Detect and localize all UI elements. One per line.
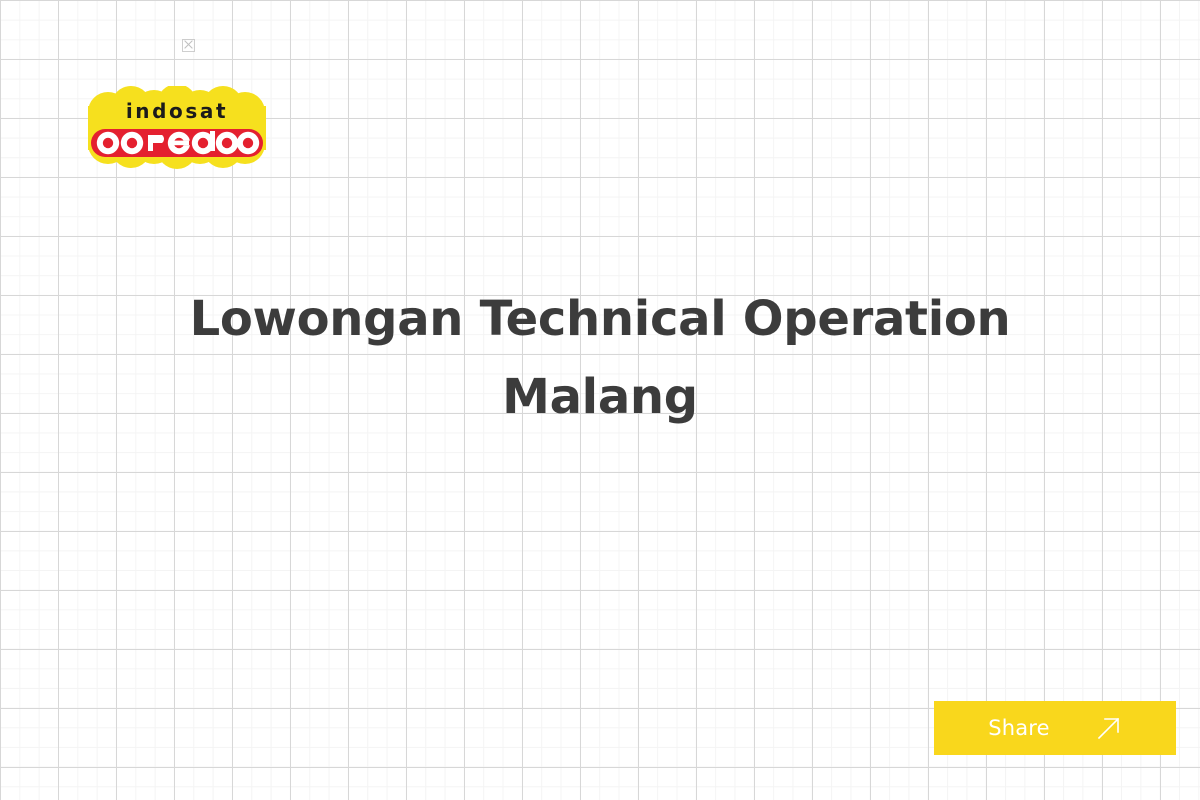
share-button-label: Share bbox=[988, 718, 1050, 739]
share-button[interactable]: Share bbox=[934, 701, 1176, 755]
broken-image-icon bbox=[182, 39, 195, 52]
arrow-up-right-icon bbox=[1096, 715, 1122, 741]
logo-wordmark-ooredoo bbox=[91, 129, 263, 157]
page-title: Lowongan Technical Operation Malang bbox=[100, 280, 1100, 436]
page-root: indosat bbox=[0, 0, 1200, 800]
logo-wordmark-indosat: indosat bbox=[88, 100, 266, 122]
indosat-ooredoo-logo: indosat bbox=[88, 86, 266, 170]
